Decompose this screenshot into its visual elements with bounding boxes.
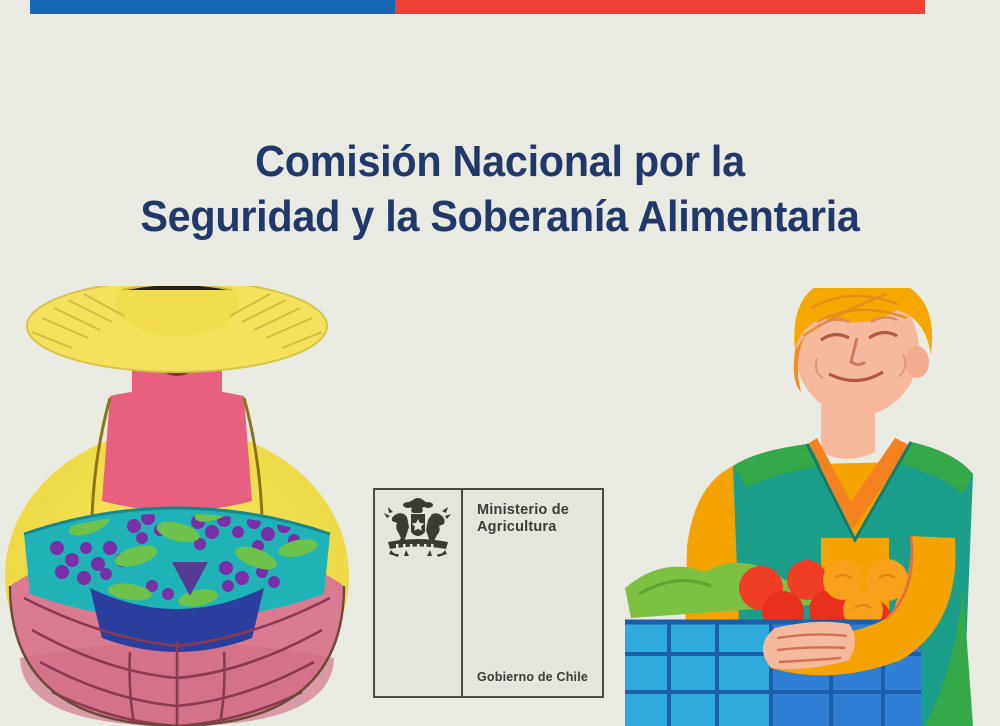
flag-red-segment <box>395 0 925 14</box>
man-with-vegetable-crate-illustration <box>625 288 1000 726</box>
ministry-name-line-1: Ministerio de <box>477 502 602 519</box>
chilean-flag-bar <box>30 0 925 14</box>
woman-torso <box>102 389 252 512</box>
page-title: Comisión Nacional por la Seguridad y la … <box>0 134 1000 244</box>
government-label: Gobierno de Chile <box>477 670 588 684</box>
flag-blue-segment <box>30 0 395 14</box>
man-hand <box>763 622 855 669</box>
chile-coat-of-arms-icon <box>382 498 454 560</box>
page-title-line-2: Seguridad y la Soberanía Alimentaria <box>30 189 970 244</box>
coat-of-arms-cell <box>375 490 463 696</box>
ministry-logo-box: Ministerio de Agricultura Gobierno de Ch… <box>373 488 604 698</box>
man-ear <box>905 346 929 378</box>
ministry-name-line-2: Agricultura <box>477 519 602 536</box>
man-illustration-svg <box>625 288 1000 726</box>
woman-illustration-svg <box>2 286 352 726</box>
woman-with-berry-bowl-illustration <box>2 286 352 726</box>
page-title-line-1: Comisión Nacional por la <box>30 134 970 189</box>
ministry-text-cell: Ministerio de Agricultura Gobierno de Ch… <box>463 490 602 696</box>
